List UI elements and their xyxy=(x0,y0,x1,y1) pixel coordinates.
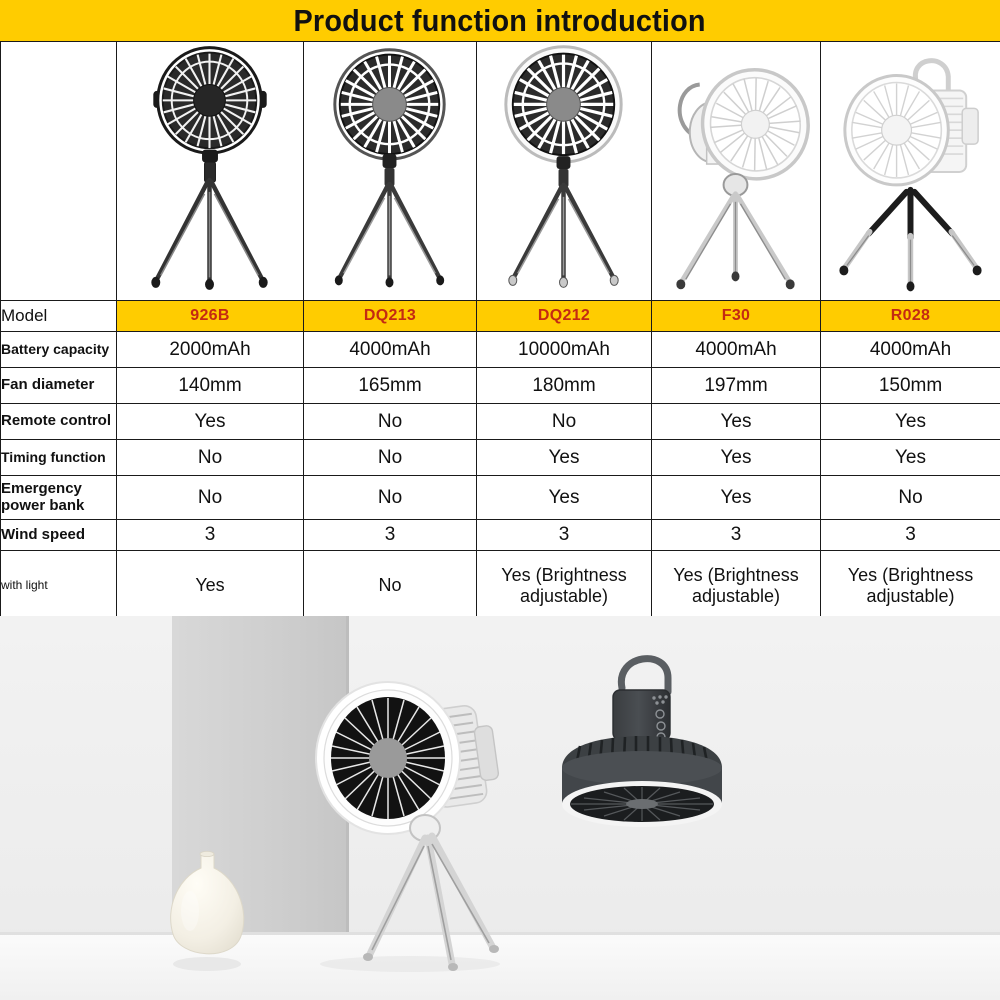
timing-cell-5: Yes xyxy=(821,440,1000,476)
with-light-cell-3: Yes (Brightness adjustable) xyxy=(477,551,652,621)
product-image-row xyxy=(1,42,1000,301)
title-banner: Product function introduction xyxy=(0,0,1000,41)
model-cell-4: F30 xyxy=(652,301,821,332)
black-tripod-fan-icon xyxy=(304,42,476,300)
row-label-wind-speed: Wind speed xyxy=(1,520,117,551)
white-tripod-fan-hook-icon xyxy=(821,42,1000,300)
white-tripod-fan-hook-icon xyxy=(652,42,820,300)
diameter-cell-4: 197mm xyxy=(652,368,821,404)
product-infographic: Product function introduction xyxy=(0,0,1000,1000)
battery-cell-4: 4000mAh xyxy=(652,332,821,368)
model-cell-5: R028 xyxy=(821,301,1000,332)
with-light-cell-5: Yes (Brightness adjustable) xyxy=(821,551,1000,621)
battery-cell-1: 2000mAh xyxy=(117,332,304,368)
power-bank-cell-1: No xyxy=(117,476,304,520)
product-image-926b xyxy=(117,42,304,301)
row-label-remote-control: Remote control xyxy=(1,404,117,440)
wind-speed-row: Wind speed 3 3 3 3 3 xyxy=(1,520,1000,551)
wind-speed-cell-1: 3 xyxy=(117,520,304,551)
diameter-cell-1: 140mm xyxy=(117,368,304,404)
row-label-battery-capacity: Battery capacity xyxy=(1,332,117,368)
remote-cell-3: No xyxy=(477,404,652,440)
battery-capacity-row: Battery capacity 2000mAh 4000mAh 10000mA… xyxy=(1,332,1000,368)
timing-cell-4: Yes xyxy=(652,440,821,476)
timing-function-row: Timing function No No Yes Yes Yes xyxy=(1,440,1000,476)
battery-cell-5: 4000mAh xyxy=(821,332,1000,368)
model-row: Model 926B DQ213 DQ212 F30 R028 xyxy=(1,301,1000,332)
model-cell-3: DQ212 xyxy=(477,301,652,332)
with-light-cell-1: Yes xyxy=(117,551,304,621)
battery-cell-3: 10000mAh xyxy=(477,332,652,368)
row-label-line2: power bank xyxy=(1,498,116,515)
model-cell-1: 926B xyxy=(117,301,304,332)
wind-speed-cell-4: 3 xyxy=(652,520,821,551)
black-tripod-fan-light-ring-icon xyxy=(477,42,651,300)
product-image-f30 xyxy=(652,42,821,301)
with-light-line1: Yes (Brightness xyxy=(652,565,820,586)
lifestyle-photo xyxy=(0,616,1000,1000)
wind-speed-cell-3: 3 xyxy=(477,520,652,551)
emergency-power-bank-row: Emergency power bank No No Yes Yes No xyxy=(1,476,1000,520)
with-light-cell-2: No xyxy=(304,551,477,621)
with-light-line1: Yes (Brightness xyxy=(477,565,651,586)
with-light-line1: No xyxy=(304,575,476,596)
with-light-line2: adjustable) xyxy=(477,586,651,607)
remote-cell-5: Yes xyxy=(821,404,1000,440)
spec-comparison-table: Model 926B DQ213 DQ212 F30 R028 Battery … xyxy=(0,41,1000,621)
timing-cell-2: No xyxy=(304,440,477,476)
row-label-timing-function: Timing function xyxy=(1,440,117,476)
row-label-emergency-power-bank: Emergency power bank xyxy=(1,476,117,520)
timing-cell-1: No xyxy=(117,440,304,476)
black-tripod-fan-icon xyxy=(117,42,303,300)
product-image-r028 xyxy=(821,42,1000,301)
lifestyle-scene xyxy=(0,616,1000,1000)
power-bank-cell-4: Yes xyxy=(652,476,821,520)
power-bank-cell-3: Yes xyxy=(477,476,652,520)
timing-cell-3: Yes xyxy=(477,440,652,476)
with-light-line2: adjustable) xyxy=(652,586,820,607)
with-light-cell-4: Yes (Brightness adjustable) xyxy=(652,551,821,621)
remote-cell-4: Yes xyxy=(652,404,821,440)
battery-cell-2: 4000mAh xyxy=(304,332,477,368)
row-label-fan-diameter: Fan diameter xyxy=(1,368,117,404)
wind-speed-cell-5: 3 xyxy=(821,520,1000,551)
product-image-dq213 xyxy=(304,42,477,301)
product-image-dq212 xyxy=(477,42,652,301)
row-label-line1: Emergency xyxy=(1,481,116,498)
with-light-line2: adjustable) xyxy=(821,586,1000,607)
power-bank-cell-5: No xyxy=(821,476,1000,520)
remote-cell-2: No xyxy=(304,404,477,440)
row-label-model: Model xyxy=(1,301,117,332)
row-label-with-light: with light xyxy=(1,551,117,621)
with-light-line1: Yes xyxy=(117,575,303,596)
diameter-cell-5: 150mm xyxy=(821,368,1000,404)
image-row-label-cell xyxy=(1,42,117,301)
model-cell-2: DQ213 xyxy=(304,301,477,332)
diameter-cell-3: 180mm xyxy=(477,368,652,404)
with-light-line1: Yes (Brightness xyxy=(821,565,1000,586)
with-light-row: with light Yes No Yes (Brightness adjust… xyxy=(1,551,1000,621)
page-title: Product function introduction xyxy=(294,3,706,39)
wind-speed-cell-2: 3 xyxy=(304,520,477,551)
power-bank-cell-2: No xyxy=(304,476,477,520)
fan-diameter-row: Fan diameter 140mm 165mm 180mm 197mm 150… xyxy=(1,368,1000,404)
diameter-cell-2: 165mm xyxy=(304,368,477,404)
remote-control-row: Remote control Yes No No Yes Yes xyxy=(1,404,1000,440)
remote-cell-1: Yes xyxy=(117,404,304,440)
